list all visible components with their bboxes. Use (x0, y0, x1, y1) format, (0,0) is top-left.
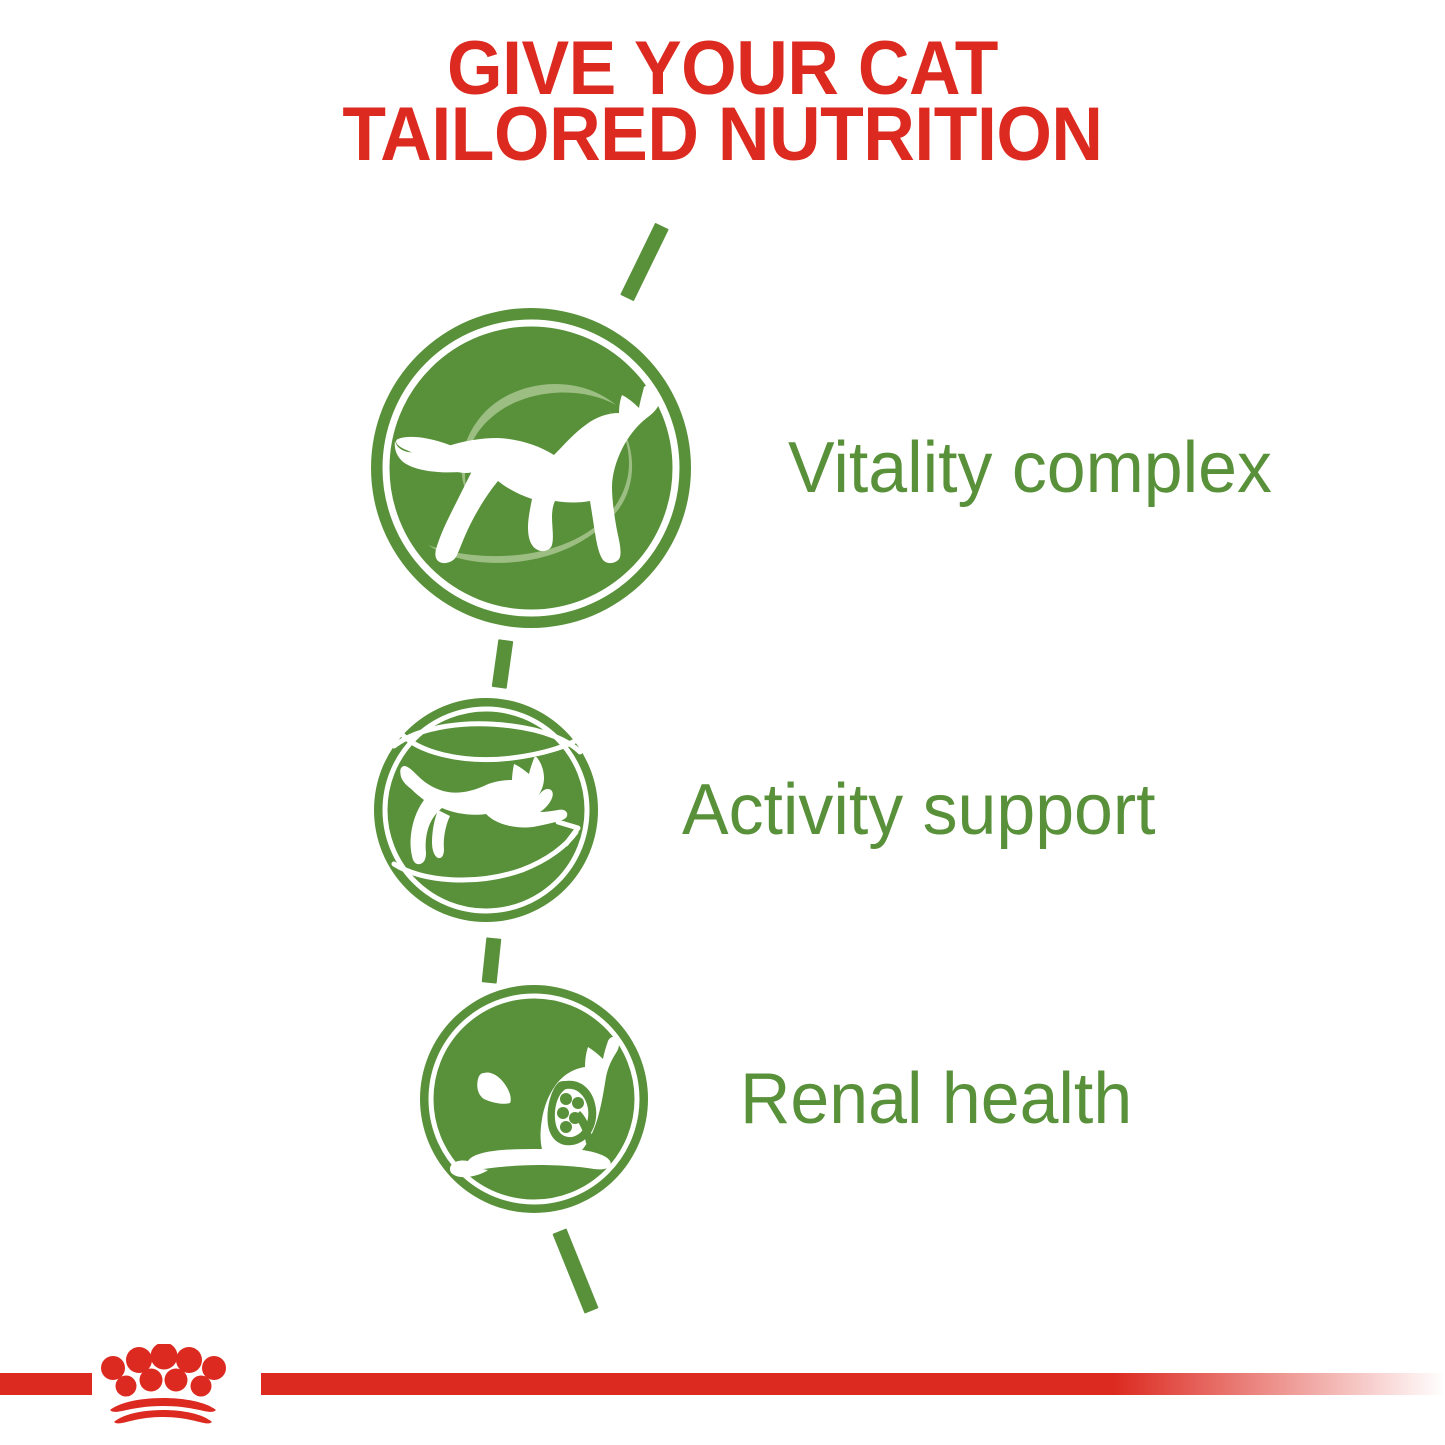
connector-dash-top (620, 223, 669, 301)
sitting-cat-kidney-icon (418, 983, 650, 1215)
page-title: GIVE YOUR CAT TAILORED NUTRITION (43, 36, 1401, 168)
royal-canin-crown-logo (96, 1344, 230, 1432)
connector-dash-activity-renal (482, 937, 502, 983)
feature-item-activity-support: Activity support (372, 696, 1170, 924)
jumping-cat-icon (372, 696, 600, 924)
feature-item-renal-health: Renal health (418, 983, 1144, 1215)
standing-cat-icon (368, 305, 694, 631)
footer-bar-right (261, 1373, 1445, 1395)
connector-dash-bottom (552, 1228, 598, 1313)
feature-label-activity-support: Activity support (682, 772, 1156, 848)
feature-item-vitality-complex: Vitality complex (368, 305, 1287, 631)
footer (0, 1330, 1445, 1445)
footer-bar-left (0, 1373, 92, 1395)
page-title-line-2: TAILORED NUTRITION (43, 102, 1401, 168)
poster-canvas: GIVE YOUR CAT TAILORED NUTRITION Vitalit… (0, 0, 1445, 1445)
connector-dash-vitality-activity (492, 639, 514, 689)
feature-label-renal-health: Renal health (740, 1061, 1132, 1137)
feature-label-vitality-complex: Vitality complex (788, 430, 1272, 506)
